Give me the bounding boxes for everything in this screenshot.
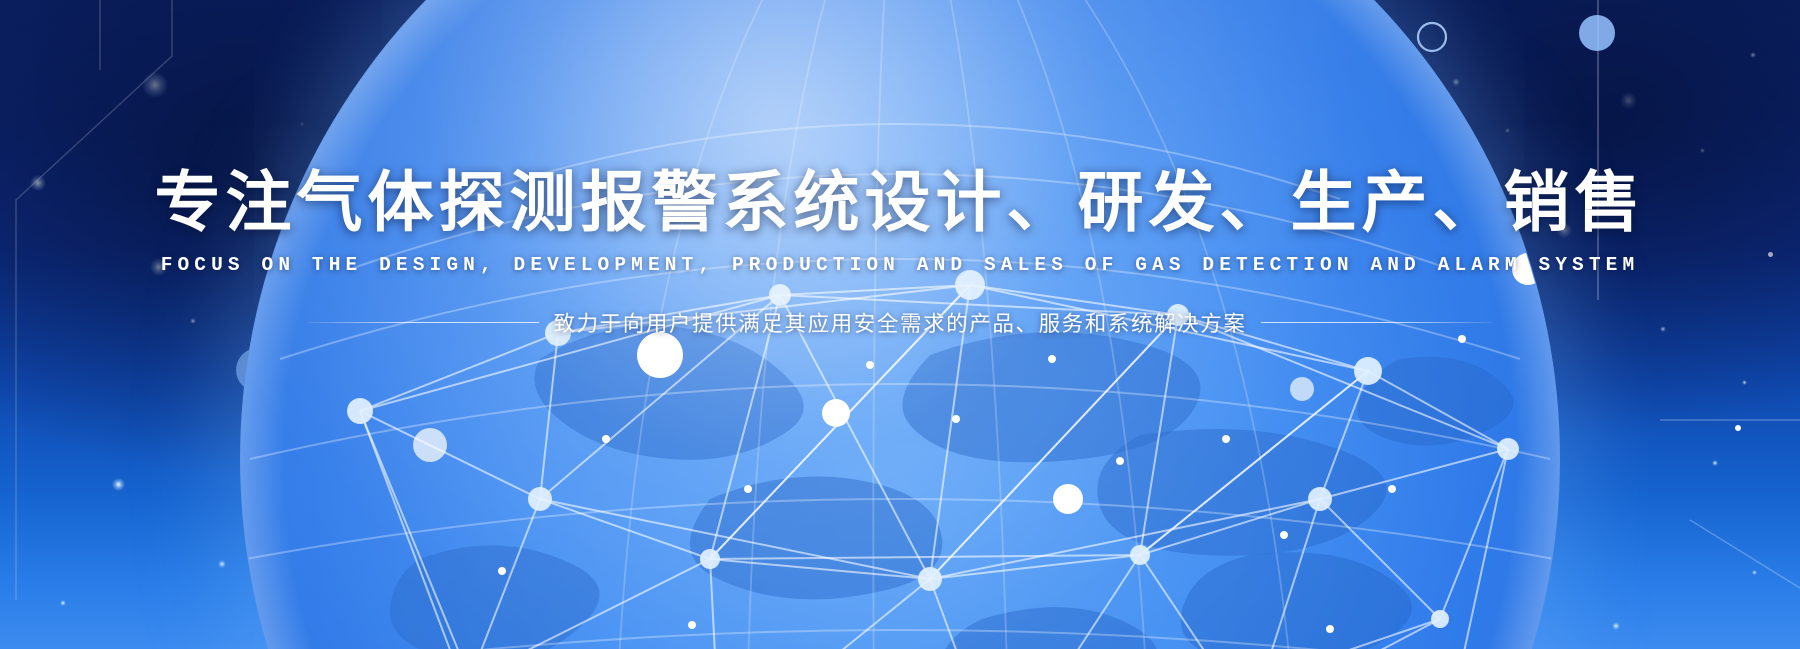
hero-banner: 专注气体探测报警系统设计、研发、生产、销售 FOCUS ON THE DESIG… — [0, 0, 1800, 649]
page-title: 专注气体探测报警系统设计、研发、生产、销售 — [0, 168, 1800, 238]
decorative-rule-left — [307, 322, 539, 323]
tagline-row: 致力于向用户提供满足其应用安全需求的产品、服务和系统解决方案 — [0, 307, 1800, 338]
banner-tagline: 致力于向用户提供满足其应用安全需求的产品、服务和系统解决方案 — [553, 307, 1246, 338]
banner-text-block: 专注气体探测报警系统设计、研发、生产、销售 FOCUS ON THE DESIG… — [0, 168, 1800, 338]
banner-subtitle: FOCUS ON THE DESIGN, DEVELOPMENT, PRODUC… — [0, 254, 1800, 276]
decorative-rule-right — [1261, 322, 1493, 323]
